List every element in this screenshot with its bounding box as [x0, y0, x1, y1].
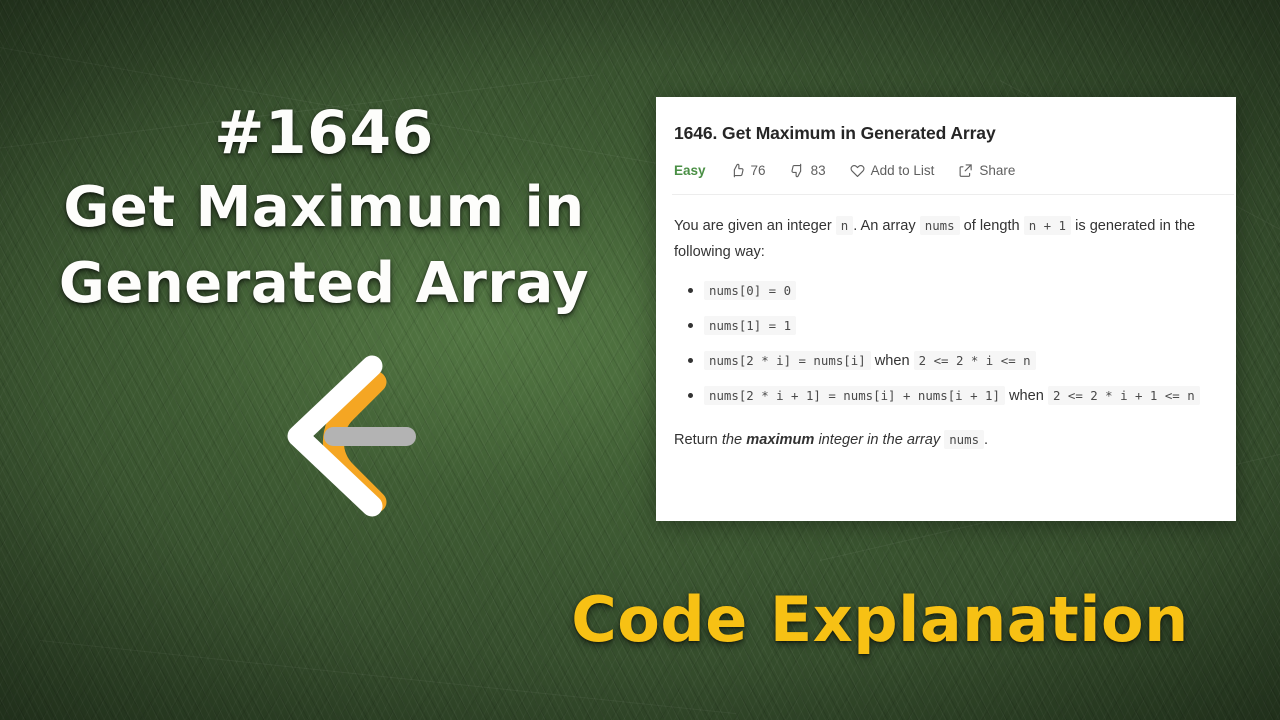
- difficulty-badge: Easy: [674, 163, 706, 178]
- problem-title: 1646. Get Maximum in Generated Array: [674, 123, 1216, 144]
- intro-code-nums: nums: [920, 216, 960, 235]
- rule-code-a: nums[0] = 0: [704, 281, 796, 300]
- share-label: Share: [979, 163, 1015, 178]
- rule-code-a: nums[2 * i + 1] = nums[i] + nums[i + 1]: [704, 386, 1005, 405]
- dislike-button[interactable]: 83: [790, 163, 826, 178]
- return-italic-1: the: [722, 432, 742, 448]
- intro-code-n-plus-1: n + 1: [1024, 216, 1071, 235]
- banner-text: Code Explanation: [500, 582, 1260, 658]
- return-bold-word: maximum: [746, 432, 814, 448]
- add-to-list-label: Add to List: [871, 163, 935, 178]
- share-button[interactable]: Share: [958, 163, 1015, 178]
- texture-scratch: [0, 74, 595, 151]
- leetcode-logo: [272, 352, 432, 532]
- thumbnail-canvas: #1646 Get Maximum in Generated Array Cod…: [0, 0, 1280, 720]
- problem-meta-row: Easy 76 83: [674, 163, 1216, 178]
- thumbs-up-icon: [730, 163, 745, 178]
- intro-code-n: n: [836, 216, 853, 235]
- texture-scratch: [0, 40, 709, 173]
- return-suffix: .: [984, 432, 988, 448]
- rule-code-b: 2 <= 2 * i + 1 <= n: [1048, 386, 1200, 405]
- list-item: nums[0] = 0: [674, 278, 1216, 304]
- rule-code-b: 2 <= 2 * i <= n: [914, 351, 1036, 370]
- rules-list: nums[0] = 0 nums[1] = 1 nums[2 * i] = nu…: [674, 278, 1216, 409]
- return-statement: Return the maximum integer in the array …: [674, 427, 1216, 453]
- return-prefix: Return: [674, 432, 718, 448]
- video-title-line-1: #1646: [0, 96, 648, 170]
- intro-part-2: . An array: [853, 218, 915, 234]
- texture-scratch: [40, 640, 736, 714]
- intro-paragraph: You are given an integer n. An array num…: [674, 213, 1216, 265]
- rule-code-a: nums[1] = 1: [704, 316, 796, 335]
- return-code-nums: nums: [944, 430, 984, 449]
- share-icon: [958, 163, 973, 178]
- like-button[interactable]: 76: [730, 163, 766, 178]
- rule-keyword: when: [875, 353, 910, 369]
- heart-icon: [850, 163, 865, 178]
- video-title-line-2: Get Maximum in: [0, 170, 648, 246]
- return-italic-2: integer in the array: [818, 432, 940, 448]
- list-item: nums[2 * i] = nums[i] when 2 <= 2 * i <=…: [674, 348, 1216, 374]
- intro-part-3: of length: [964, 218, 1020, 234]
- problem-description: You are given an integer n. An array num…: [674, 213, 1216, 453]
- rule-code-a: nums[2 * i] = nums[i]: [704, 351, 871, 370]
- leetcode-problem-card: 1646. Get Maximum in Generated Array Eas…: [656, 97, 1236, 521]
- like-count: 76: [751, 163, 766, 178]
- video-title-line-3: Generated Array: [0, 246, 648, 322]
- leetcode-logo-icon: [272, 352, 432, 532]
- intro-part-1: You are given an integer: [674, 218, 832, 234]
- thumbs-down-icon: [790, 163, 805, 178]
- card-divider: [672, 194, 1234, 195]
- rule-keyword: when: [1009, 388, 1044, 404]
- list-item: nums[2 * i + 1] = nums[i] + nums[i + 1] …: [674, 383, 1216, 409]
- add-to-list-button[interactable]: Add to List: [850, 163, 935, 178]
- dislike-count: 83: [811, 163, 826, 178]
- video-title: #1646 Get Maximum in Generated Array: [0, 96, 648, 322]
- list-item: nums[1] = 1: [674, 313, 1216, 339]
